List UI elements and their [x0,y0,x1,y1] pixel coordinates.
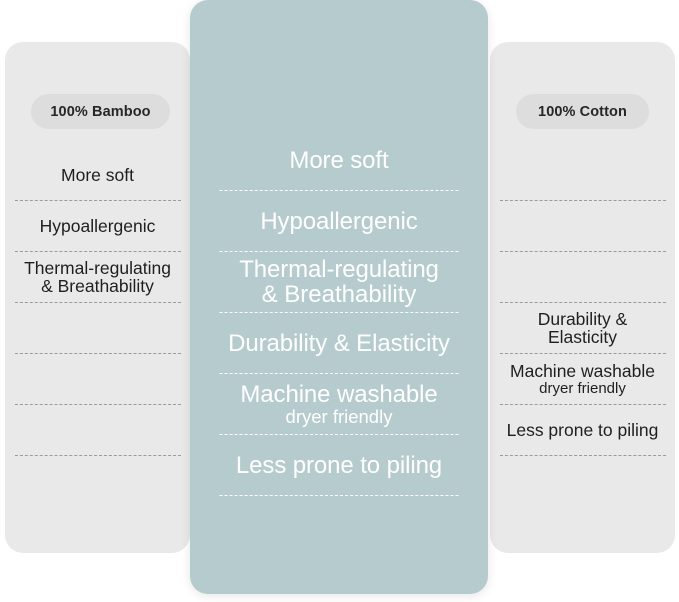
feature-label-line2: & Breathability [262,282,417,308]
feature-row-empty [490,252,675,303]
feature-row-empty [5,405,190,456]
feature-row: Durability & Elasticity [490,303,675,354]
feature-row-empty [490,201,675,252]
feature-row-empty [5,303,190,354]
feature-row: Hypoallergenic [5,201,190,252]
row-divider [15,455,181,456]
feature-label: Machine washable [510,362,655,381]
feature-label: Thermal-regulating [24,259,171,278]
row-divider [500,455,666,456]
comparison-chart: 100% Bamboo 100% Cotton Bamboo Cotton Bl… [0,0,679,602]
row-divider [220,495,459,496]
feature-row: Less prone to piling [190,435,488,496]
badge-100-percent-cotton: 100% Cotton [516,94,649,129]
feature-list-cotton: Durability & Elasticity Machine washable… [490,150,675,456]
feature-row: More soft [190,130,488,191]
feature-label: Machine washable [240,382,437,407]
feature-label: More soft [61,166,134,185]
feature-label: Thermal-regulating [239,257,439,282]
feature-row: Thermal-regulating & Breathability [5,252,190,303]
feature-row: Hypoallergenic [190,191,488,252]
feature-row: More soft [5,150,190,201]
feature-label: Hypoallergenic [40,217,156,236]
feature-list-blend: More soft Hypoallergenic Thermal-regulat… [190,130,488,496]
feature-row: Less prone to piling [490,405,675,456]
feature-label: More soft [289,148,388,173]
feature-list-bamboo: More soft Hypoallergenic Thermal-regulat… [5,150,190,456]
feature-label-line2: & Breathability [41,277,154,296]
feature-row: Machine washable dryer friendly [490,354,675,405]
feature-label-line2: Elasticity [548,328,617,347]
feature-row-empty [5,354,190,405]
feature-label: Less prone to piling [507,421,659,440]
feature-sublabel: dryer friendly [286,407,393,427]
feature-label: Hypoallergenic [260,209,417,234]
feature-label: Less prone to piling [236,453,442,478]
badge-100-percent-bamboo: 100% Bamboo [31,94,170,129]
feature-row: Machine washable dryer friendly [190,374,488,435]
feature-row: Thermal-regulating & Breathability [190,252,488,313]
feature-row: Durability & Elasticity [190,313,488,374]
feature-row-empty [490,150,675,201]
feature-label: Durability & Elasticity [228,331,450,356]
feature-sublabel: dryer friendly [539,381,626,397]
feature-label: Durability & [538,310,627,329]
